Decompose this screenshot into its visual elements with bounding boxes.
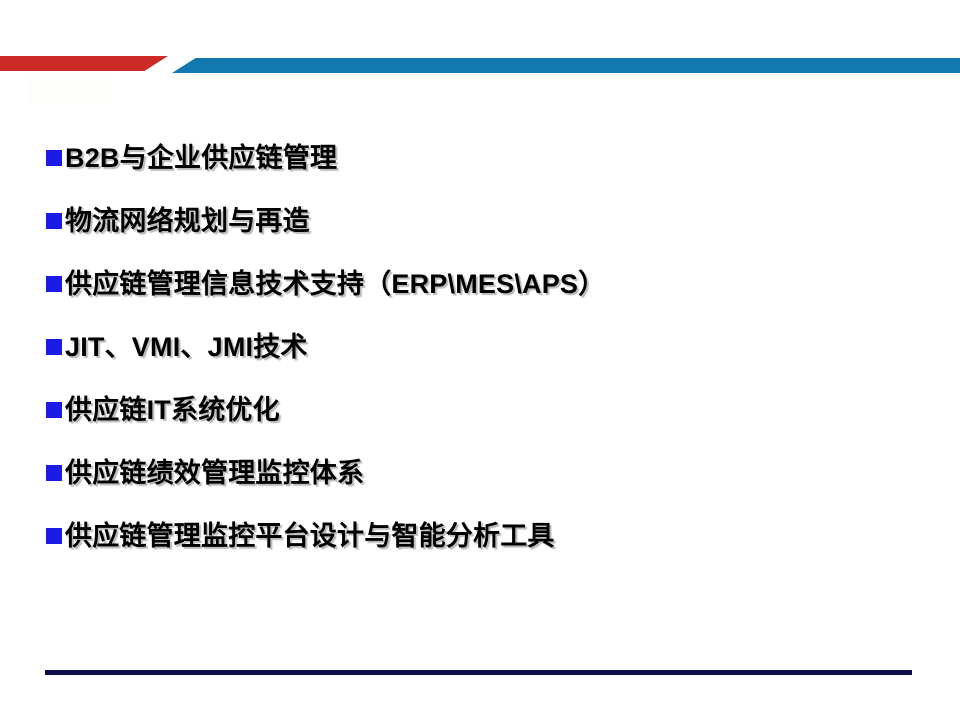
list-item-label: 物流网络规划与再造: [65, 202, 926, 240]
header-faint-artifact: [26, 78, 112, 104]
footer-divider-rule: [45, 670, 912, 675]
square-bullet-icon: [46, 528, 62, 544]
list-item: 供应链管理监控平台设计与智能分析工具: [46, 517, 926, 580]
list-item-label: 供应链管理监控平台设计与智能分析工具: [65, 517, 926, 555]
bullet-list: B2B与企业供应链管理 物流网络规划与再造 供应链管理信息技术支持（ERP\ME…: [46, 139, 926, 580]
list-item-label: B2B与企业供应链管理: [65, 139, 926, 177]
list-item: 供应链绩效管理监控体系: [46, 454, 926, 517]
red-accent-bar: [0, 56, 168, 71]
slide-header-band: [0, 0, 960, 100]
square-bullet-icon: [46, 276, 62, 292]
list-item-label: 供应链IT系统优化: [65, 391, 926, 429]
list-item: B2B与企业供应链管理: [46, 139, 926, 202]
blue-accent-bar: [172, 58, 960, 73]
list-item: 供应链管理信息技术支持（ERP\MES\APS）: [46, 265, 926, 328]
square-bullet-icon: [46, 402, 62, 418]
square-bullet-icon: [46, 339, 62, 355]
list-item-label: JIT、VMI、JMI技术: [65, 328, 926, 366]
list-item: 供应链IT系统优化: [46, 391, 926, 454]
list-item-label: 供应链绩效管理监控体系: [65, 454, 926, 492]
list-item: 物流网络规划与再造: [46, 202, 926, 265]
square-bullet-icon: [46, 465, 62, 481]
list-item-label: 供应链管理信息技术支持（ERP\MES\APS）: [65, 265, 926, 303]
list-item: JIT、VMI、JMI技术: [46, 328, 926, 391]
square-bullet-icon: [46, 150, 62, 166]
square-bullet-icon: [46, 213, 62, 229]
